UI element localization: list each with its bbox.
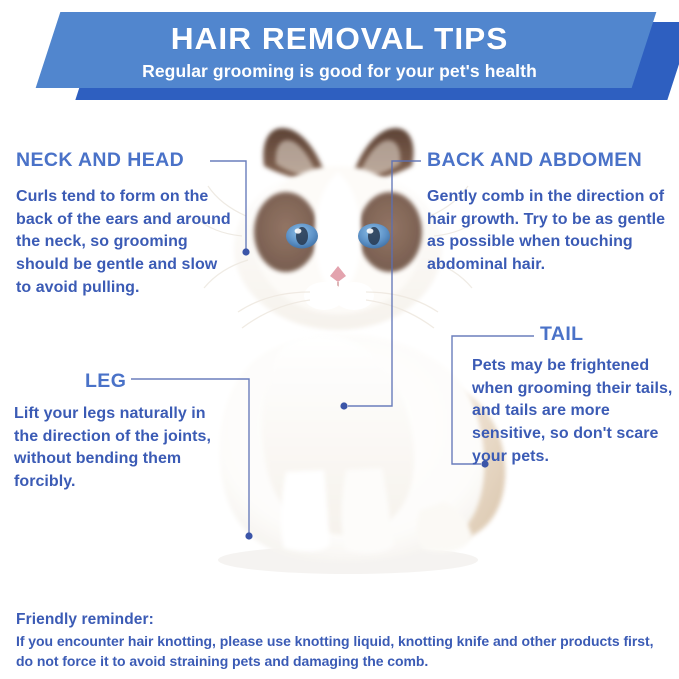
footer-note: Friendly reminder: If you encounter hair… <box>16 610 666 671</box>
section-heading-back-and-abdomen: BACK AND ABDOMEN <box>427 151 642 171</box>
cat-front-leg-left <box>281 470 330 551</box>
section-body-tail: Pets may be frightened when grooming the… <box>472 355 677 469</box>
banner-text-group: HAIR REMOVAL TIPS Regular grooming is go… <box>0 12 679 92</box>
footer-title: Friendly reminder: <box>16 610 666 629</box>
page-subtitle: Regular grooming is good for your pet's … <box>142 63 537 81</box>
footer-body: If you encounter hair knotting, please u… <box>16 632 666 671</box>
header-banner: HAIR REMOVAL TIPS Regular grooming is go… <box>0 0 679 106</box>
page-title: HAIR REMOVAL TIPS <box>171 23 509 54</box>
section-body-back-and-abdomen: Gently comb in the direction of hair gro… <box>427 186 677 277</box>
infographic-page: HAIR REMOVAL TIPS Regular grooming is go… <box>0 0 679 679</box>
section-heading-leg: LEG <box>85 372 126 392</box>
section-body-neck-and-head: Curls tend to form on the back of the ea… <box>16 186 236 300</box>
section-heading-neck-and-head: NECK AND HEAD <box>16 151 184 171</box>
section-body-leg: Lift your legs naturally in the directio… <box>14 403 229 494</box>
section-heading-tail: TAIL <box>540 325 583 345</box>
